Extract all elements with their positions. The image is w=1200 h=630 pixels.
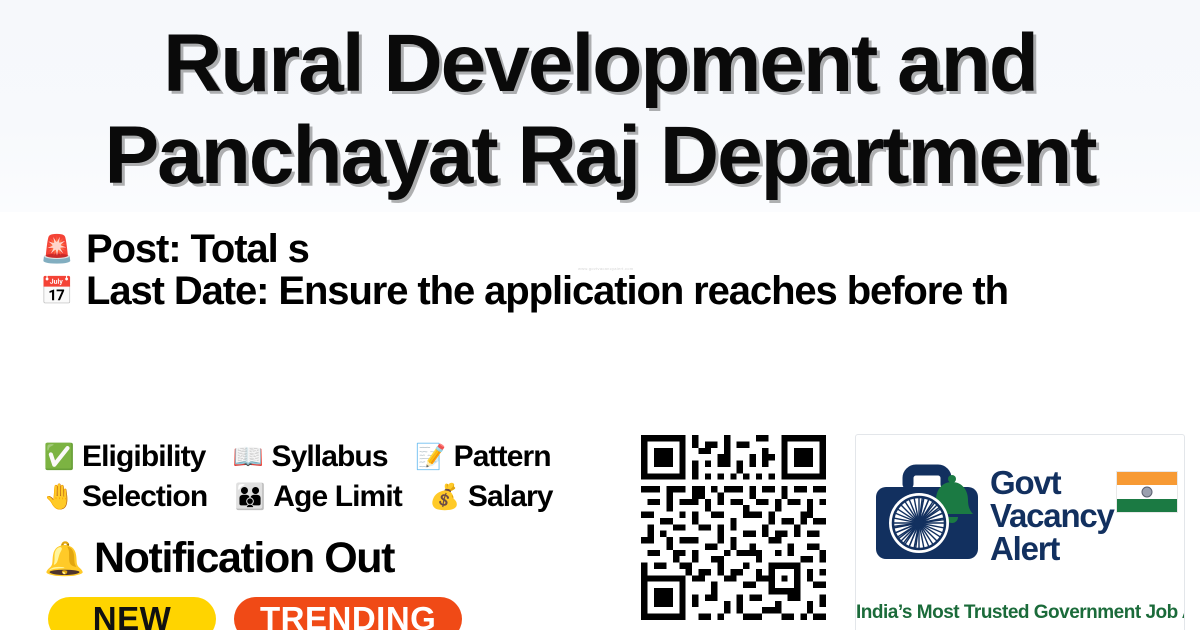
check-mark-icon: ✅	[44, 442, 74, 472]
page-title: Rural Development and Panchayat Raj Depa…	[0, 18, 1200, 202]
page-title-line-2: Panchayat Raj Department	[0, 110, 1200, 202]
last-date-text: Last Date: Ensure the application reache…	[86, 270, 1008, 312]
status-badge-trending[interactable]: TRENDING	[234, 597, 462, 630]
flag-chakra-icon	[1142, 486, 1153, 497]
siren-icon: 🚨	[40, 232, 74, 266]
brand-tagline: India’s Most Trusted Government Job Aler…	[856, 602, 1185, 624]
india-flag-icon	[1116, 471, 1178, 513]
feature-eligibility: ✅ Eligibility	[44, 441, 205, 473]
notification-out-label: Notification Out	[94, 535, 394, 581]
feature-salary-label: Salary	[468, 481, 553, 513]
hand-selection-icon: 🤚	[44, 482, 74, 512]
features-card: ✅ Eligibility 📖 Syllabus 📝 Pattern 🤚 Sel…	[0, 425, 632, 630]
info-row-last-date: 📅 Last Date: Ensure the application reac…	[40, 270, 1200, 312]
bell-icon: 🔔	[44, 542, 82, 575]
features-row-2: 🤚 Selection 👪 Age Limit 💰 Salary	[44, 477, 644, 517]
feature-selection: 🤚 Selection	[44, 481, 207, 513]
features-grid: ✅ Eligibility 📖 Syllabus 📝 Pattern 🤚 Sel…	[44, 437, 644, 517]
post-total-text: Post: Total s	[86, 228, 309, 270]
feature-eligibility-label: Eligibility	[82, 441, 205, 473]
features-row-1: ✅ Eligibility 📖 Syllabus 📝 Pattern	[44, 437, 644, 477]
brand-line-3: Alert	[990, 532, 1185, 565]
flag-stripe-saffron	[1117, 472, 1177, 485]
briefcase-chakra-bell-logo-icon	[866, 454, 988, 576]
flag-stripe-green	[1117, 499, 1177, 512]
feature-selection-label: Selection	[82, 481, 207, 513]
open-book-icon: 📖	[233, 442, 263, 472]
notification-out-row: 🔔 Notification Out	[44, 535, 394, 581]
feature-syllabus: 📖 Syllabus	[233, 441, 387, 473]
brand-logo-main: Govt Vacancy Alert	[856, 449, 1185, 581]
feature-age-limit-label: Age Limit	[273, 481, 402, 513]
exam-paper-icon: 📝	[416, 442, 446, 472]
watermark-text: www.govtvacancyalert.com	[578, 266, 633, 271]
badge-row: NEW TRENDING	[48, 597, 462, 630]
flag-stripe-white	[1117, 485, 1177, 498]
feature-salary: 💰 Salary	[430, 481, 553, 513]
feature-age-limit: 👪 Age Limit	[235, 481, 402, 513]
feature-pattern: 📝 Pattern	[416, 441, 551, 473]
money-bag-icon: 💰	[430, 482, 460, 512]
status-badge-new[interactable]: NEW	[48, 597, 216, 630]
feature-pattern-label: Pattern	[454, 441, 551, 473]
info-row-post: 🚨 Post: Total s	[40, 228, 1200, 270]
brand-logo-card: Govt Vacancy Alert India’s Most Trusted …	[855, 434, 1185, 630]
feature-syllabus-label: Syllabus	[271, 441, 387, 473]
family-people-icon: 👪	[235, 482, 265, 512]
calendar-icon: 📅	[40, 274, 74, 308]
page-title-line-1: Rural Development and	[0, 18, 1200, 110]
qr-code[interactable]	[641, 435, 826, 630]
